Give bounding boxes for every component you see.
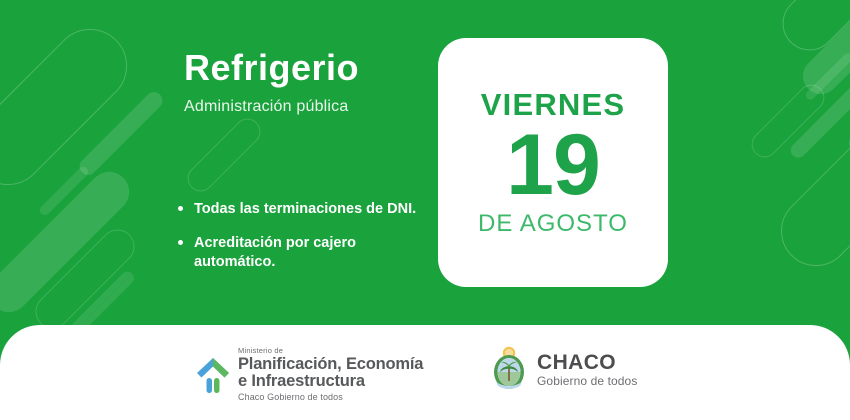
poster-canvas: Refrigerio Administración pública Todas … (0, 0, 850, 420)
date-month: DE AGOSTO (478, 212, 628, 236)
list-item-label: Acreditación por cajero automático. (194, 235, 356, 271)
house-chevron-icon (196, 354, 230, 396)
decor-capsule-outline-left-1 (0, 14, 142, 201)
date-weekday: VIERNES (481, 89, 626, 120)
decor-capsule-fill-right-1 (795, 0, 850, 102)
ministry-name-line-2: e Infraestructura (238, 373, 423, 391)
decor-capsule-outline-left-3 (28, 222, 141, 335)
decor-capsule-fill-left-3 (0, 164, 137, 321)
bullet-dot-icon (178, 240, 183, 245)
date-card: VIERNES 19 DE AGOSTO (438, 38, 668, 287)
chaco-coat-of-arms-icon (490, 346, 528, 392)
list-item-label: Todas las terminaciones de DNI. (194, 201, 416, 217)
ministry-pre-label: Ministerio de (238, 347, 423, 355)
bullet-dot-icon (178, 206, 183, 211)
chaco-logo: CHACO Gobierno de todos (490, 346, 637, 392)
date-day-number: 19 (506, 122, 600, 210)
decor-capsule-fill-left-2 (38, 165, 90, 217)
decor-capsule-outline-right-2 (746, 79, 829, 162)
decor-capsule-outline-right-3 (767, 90, 850, 281)
footer-bar: Ministerio de Planificación, Economía e … (0, 325, 850, 420)
decor-capsule-outline-right-1 (771, 0, 850, 62)
chaco-tagline: Gobierno de todos (537, 375, 637, 387)
info-bullet-list: Todas las terminaciones de DNI. Acredita… (178, 200, 438, 287)
ministry-sub-label: Chaco Gobierno de todos (238, 393, 423, 402)
headline-block: Refrigerio Administración pública (184, 48, 434, 116)
decor-capsule-fill-right-2 (804, 51, 850, 101)
list-item: Todas las terminaciones de DNI. (178, 200, 438, 220)
page-title: Refrigerio (184, 48, 434, 88)
decor-capsule-outline-left-2 (182, 113, 265, 196)
ministry-logo: Ministerio de Planificación, Economía e … (196, 347, 423, 402)
decor-capsule-outline-right-4 (843, 58, 850, 164)
chaco-logo-text: CHACO Gobierno de todos (537, 352, 637, 387)
page-subtitle: Administración pública (184, 98, 434, 116)
decor-capsule-fill-left-1 (76, 89, 166, 179)
list-item: Acreditación por cajero automático. (178, 234, 438, 273)
chaco-name: CHACO (537, 352, 637, 373)
ministry-name-line-1: Planificación, Economía (238, 356, 423, 374)
decor-capsule-fill-right-3 (788, 78, 850, 161)
ministry-logo-text: Ministerio de Planificación, Economía e … (238, 347, 423, 402)
